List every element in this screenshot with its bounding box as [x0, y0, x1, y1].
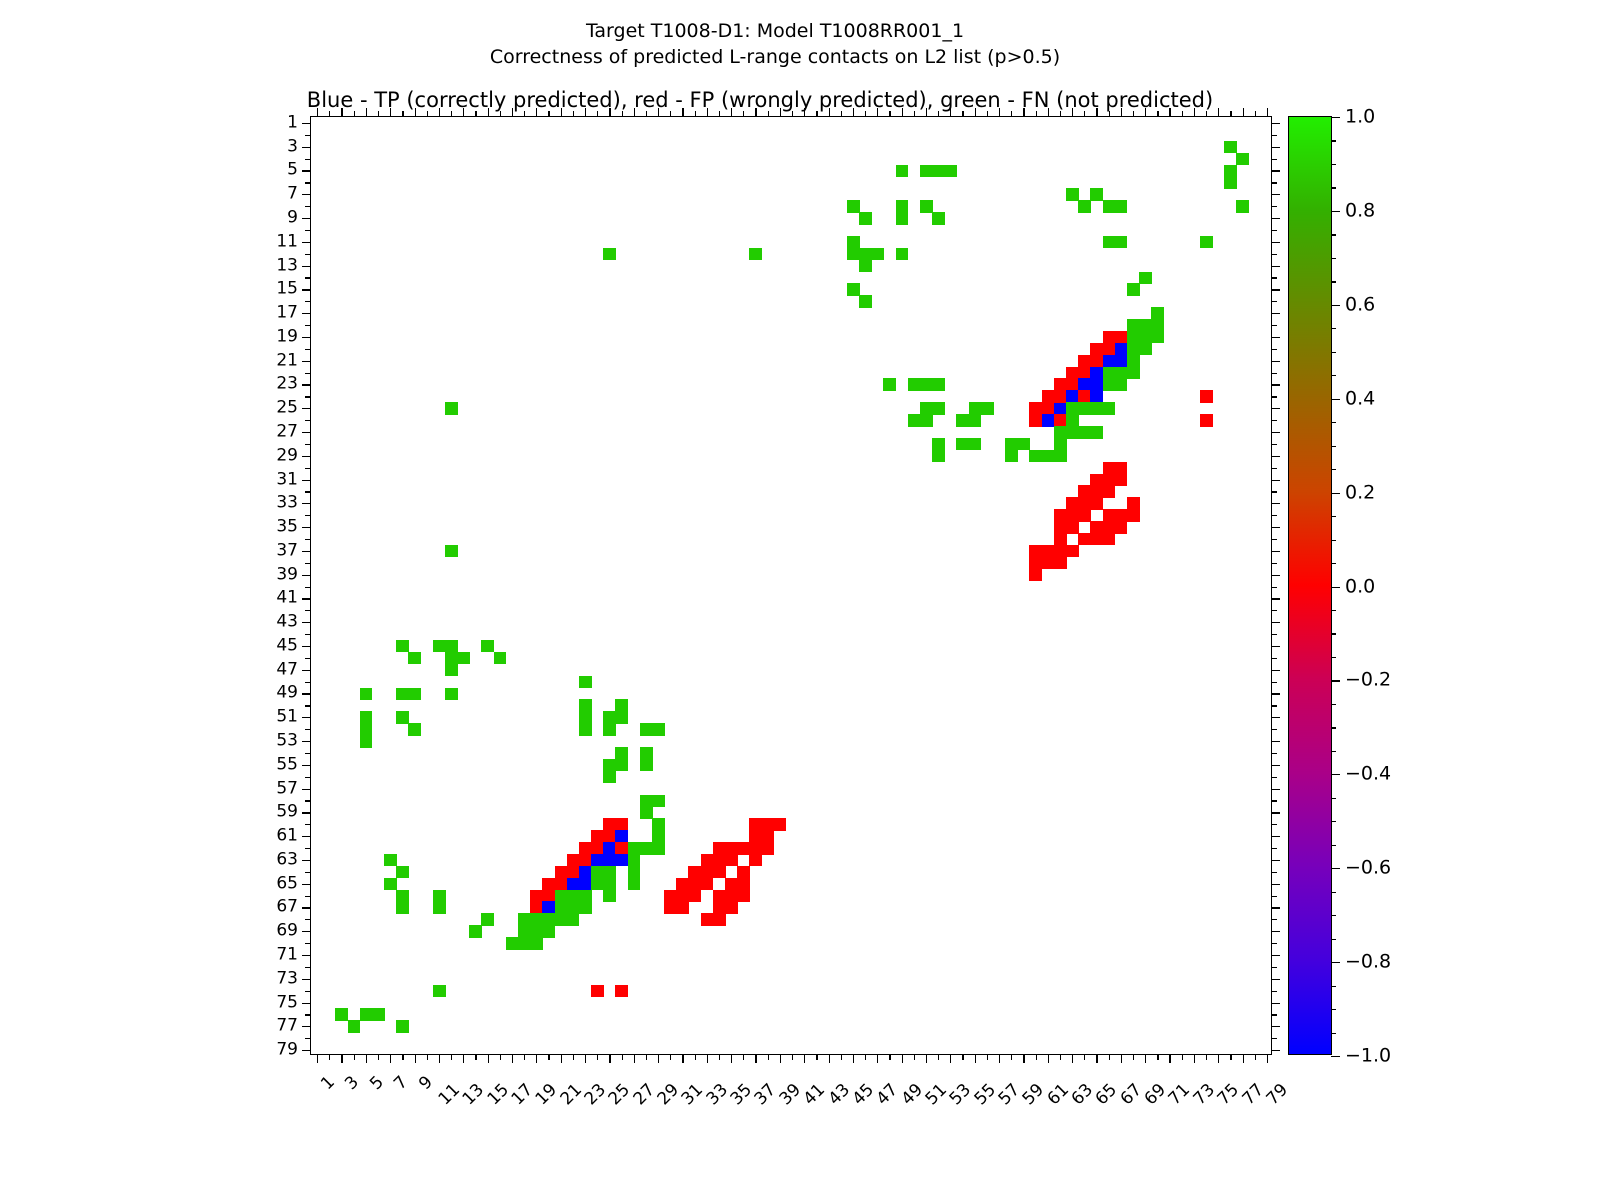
contact-cell [396, 640, 409, 652]
contact-cell-mirror [871, 248, 884, 260]
y-axis-label: 7 [287, 186, 298, 203]
colorbar-minor-tick [1331, 563, 1336, 564]
colorbar: 1.00.80.60.40.20.0−0.2−0.4−0.6−0.8−1.0 [1288, 116, 1332, 1055]
contact-cell-mirror [1151, 307, 1164, 319]
x-axis-tick [975, 1054, 976, 1063]
contact-cell [530, 913, 543, 925]
y-axis-tick [305, 301, 311, 302]
colorbar-minor-tick [1331, 469, 1336, 470]
y-axis-tick [302, 884, 311, 885]
colorbar-minor-tick [1331, 375, 1336, 376]
contact-cell-mirror [713, 913, 726, 925]
x-axis-tick [987, 1054, 988, 1060]
contact-cell-mirror [481, 913, 494, 925]
x-axis-tick-top [390, 108, 391, 117]
x-axis-tick [548, 1054, 549, 1060]
contact-cell [1042, 557, 1055, 569]
y-axis-tick-right [1271, 420, 1277, 421]
contact-cell [652, 818, 665, 830]
colorbar-minor-tick [1331, 164, 1336, 165]
y-axis-tick-right [1271, 610, 1277, 611]
x-axis-tick [536, 1054, 537, 1063]
y-axis-tick-right [1271, 170, 1280, 171]
y-axis-label: 21 [276, 352, 298, 369]
contact-cell [640, 747, 653, 759]
y-axis-tick-right [1271, 135, 1277, 136]
x-axis-tick [378, 1054, 379, 1060]
colorbar-tick [1331, 680, 1340, 681]
x-axis-tick-top [1011, 111, 1012, 117]
colorbar-minor-tick [1331, 892, 1336, 893]
contact-cell-mirror [737, 866, 750, 878]
x-axis-tick-top [695, 111, 696, 117]
x-axis-label: 3 [343, 1074, 363, 1094]
contact-cell-mirror [1090, 485, 1103, 497]
y-axis-tick [305, 610, 311, 611]
x-axis-label: 1 [319, 1074, 339, 1094]
contact-cell-mirror [969, 414, 982, 426]
contact-cell [1103, 509, 1116, 521]
contact-cell-mirror [1066, 497, 1079, 509]
contact-cell [445, 640, 458, 652]
y-axis-tick-right [1271, 943, 1277, 944]
x-axis-tick [999, 1054, 1000, 1063]
contact-cell-mirror [567, 866, 580, 878]
y-axis-tick [302, 693, 311, 694]
contact-cell [1103, 402, 1116, 414]
x-axis-tick-top [707, 108, 708, 117]
x-axis-tick [622, 1054, 623, 1060]
y-axis-tick [305, 277, 311, 278]
contact-cell [725, 842, 738, 854]
contact-cell [1066, 426, 1079, 438]
colorbar-minor-tick [1331, 798, 1336, 799]
contact-cell-mirror [896, 212, 909, 224]
contact-cell [542, 878, 555, 890]
contact-cell-mirror [1078, 355, 1091, 367]
contact-cell-mirror [1078, 497, 1091, 509]
contact-cell-mirror [749, 248, 762, 260]
y-axis-tick [305, 444, 311, 445]
colorbar-minor-tick [1331, 727, 1336, 728]
x-axis-tick [1145, 1054, 1146, 1063]
colorbar-tick-label: 0.0 [1345, 577, 1375, 596]
x-axis-tick-top [755, 108, 756, 117]
contact-cell-mirror [494, 652, 507, 664]
x-axis-tick [670, 1054, 671, 1060]
contact-cell-mirror [408, 688, 421, 700]
contact-cell-mirror [384, 854, 397, 866]
y-axis-label: 63 [276, 851, 298, 868]
y-axis-tick [302, 1003, 311, 1004]
x-axis-tick-top [573, 111, 574, 117]
x-axis-tick [1230, 1054, 1231, 1060]
y-axis-tick-right [1271, 884, 1280, 885]
contact-cell [859, 248, 872, 260]
x-axis-tick [1206, 1054, 1207, 1060]
colorbar-tick-label: −0.6 [1345, 859, 1391, 878]
y-axis-tick-right [1271, 503, 1280, 504]
y-axis-tick-right [1271, 991, 1277, 992]
contact-cell-mirror [579, 842, 592, 854]
x-axis-tick-top [658, 108, 659, 117]
contact-cell [1066, 545, 1079, 557]
contact-cell [737, 842, 750, 854]
y-axis-label: 29 [276, 447, 298, 464]
contact-cell-mirror [555, 890, 568, 902]
y-axis-label: 17 [276, 305, 298, 322]
contact-cell-mirror [628, 842, 641, 854]
y-axis-tick-right [1271, 277, 1277, 278]
y-axis-tick-right [1271, 396, 1277, 397]
contact-cell [518, 913, 531, 925]
x-axis-tick-top [1084, 111, 1085, 117]
x-axis-tick [1133, 1054, 1134, 1060]
x-axis-tick [938, 1054, 939, 1060]
contact-cell [969, 402, 982, 414]
contact-cell [1066, 188, 1079, 200]
contact-cell [1127, 497, 1140, 509]
x-axis-tick-top [536, 108, 537, 117]
x-axis-label: 9 [416, 1074, 436, 1094]
colorbar-minor-tick [1331, 1033, 1336, 1034]
x-axis-tick-top [646, 111, 647, 117]
contact-cell-mirror [956, 414, 969, 426]
contact-cell-mirror [567, 878, 580, 890]
y-axis-tick-right [1271, 325, 1277, 326]
contact-cell-mirror [1066, 414, 1079, 426]
y-axis-tick-right [1271, 206, 1277, 207]
y-axis-label: 57 [276, 780, 298, 797]
y-axis-tick [305, 777, 311, 778]
x-axis-tick-top [1145, 108, 1146, 117]
contact-cell-mirror [591, 878, 604, 890]
y-axis-tick [302, 432, 311, 433]
contact-cell-mirror [433, 985, 446, 997]
contact-cell [676, 878, 689, 890]
y-axis-tick-right [1271, 1003, 1280, 1004]
x-axis-tick [1267, 1054, 1268, 1063]
contact-cell [530, 937, 543, 949]
y-axis-tick [302, 765, 311, 766]
contact-cell-mirror [1090, 390, 1103, 402]
x-axis-tick-top [914, 111, 915, 117]
y-axis-label: 33 [276, 495, 298, 512]
x-axis-tick [829, 1054, 830, 1063]
title-line-1: Target T1008-D1: Model T1008RR001_1 [0, 18, 1550, 44]
y-axis-tick [302, 313, 311, 314]
contact-cell [725, 854, 738, 866]
contact-cell-mirror [579, 890, 592, 902]
y-axis-tick-right [1271, 967, 1277, 968]
colorbar-minor-tick [1331, 610, 1336, 611]
y-axis-tick-right [1271, 800, 1277, 801]
y-axis-tick-right [1271, 848, 1277, 849]
contact-cell-mirror [555, 878, 568, 890]
contact-cell-mirror [1103, 367, 1116, 379]
x-axis-tick-top [938, 111, 939, 117]
x-axis-tick-top [743, 111, 744, 117]
x-axis-tick-top [500, 111, 501, 117]
contact-cell-mirror [603, 842, 616, 854]
x-axis-tick-top [427, 111, 428, 117]
contact-cell-mirror [1078, 390, 1091, 402]
contact-cell-mirror [445, 652, 458, 664]
contact-cell-mirror [1103, 485, 1116, 497]
contact-cell-mirror [737, 890, 750, 902]
x-axis-tick [914, 1054, 915, 1060]
colorbar-minor-tick [1331, 633, 1336, 634]
y-axis-label: 53 [276, 733, 298, 750]
contact-cell-mirror [1127, 355, 1140, 367]
contact-cell-mirror [603, 771, 616, 783]
x-axis-tick-top [354, 111, 355, 117]
contact-cell-mirror [896, 165, 909, 177]
contact-cell [932, 402, 945, 414]
x-axis-tick [1011, 1054, 1012, 1060]
y-axis-tick-right [1271, 361, 1280, 362]
y-axis-tick-right [1271, 575, 1280, 576]
x-axis-tick [950, 1054, 951, 1063]
contact-cell-mirror [1127, 319, 1140, 331]
contact-cell-mirror [396, 1020, 409, 1032]
contact-cell-mirror [1224, 165, 1237, 177]
contact-cell [701, 866, 714, 878]
x-axis-tick [366, 1054, 367, 1063]
colorbar-tick-label: 1.0 [1345, 108, 1375, 127]
x-axis-tick [1023, 1054, 1024, 1063]
y-axis-label: 39 [276, 566, 298, 583]
contact-cell-mirror [1103, 355, 1116, 367]
x-axis-tick-top [366, 108, 367, 117]
y-axis-tick [305, 634, 311, 635]
x-axis-tick [1121, 1054, 1122, 1063]
contact-cell [1054, 438, 1067, 450]
x-axis-tick-top [585, 108, 586, 117]
x-axis-tick-top [1109, 111, 1110, 117]
contact-cell-mirror [384, 878, 397, 890]
y-axis-tick-right [1271, 408, 1280, 409]
x-axis-tick [658, 1054, 659, 1063]
contact-cell-mirror [408, 652, 421, 664]
contact-cell [542, 913, 555, 925]
y-axis-label: 35 [276, 519, 298, 536]
y-axis-tick-right [1271, 254, 1277, 255]
contact-cell-mirror [555, 913, 568, 925]
y-axis-tick-right [1271, 289, 1280, 290]
contact-cell [518, 925, 531, 937]
y-axis-tick [302, 527, 311, 528]
contact-cell [396, 866, 409, 878]
contact-cell-mirror [579, 676, 592, 688]
x-axis-tick-top [816, 111, 817, 117]
contact-cell-mirror [445, 688, 458, 700]
y-axis-tick [302, 242, 311, 243]
y-axis-tick [302, 575, 311, 576]
contact-cell [1042, 450, 1055, 462]
contact-cell [640, 759, 653, 771]
contact-cell [920, 402, 933, 414]
x-axis-tick-top [1157, 111, 1158, 117]
x-axis-tick-top [1072, 108, 1073, 117]
colorbar-tick [1331, 117, 1340, 118]
contact-cell [1200, 414, 1213, 426]
y-axis-label: 27 [276, 423, 298, 440]
y-axis-tick [302, 289, 311, 290]
contact-cell-mirror [567, 854, 580, 866]
x-axis-tick [1096, 1054, 1097, 1063]
y-axis-tick-right [1271, 634, 1277, 635]
contact-cell [396, 901, 409, 913]
x-axis-tick-top [889, 111, 890, 117]
y-axis-tick [302, 480, 311, 481]
x-axis-tick-top [877, 108, 878, 117]
colorbar-minor-tick [1331, 258, 1336, 259]
y-axis-tick [302, 503, 311, 504]
x-axis-tick [341, 1054, 342, 1063]
contact-cell [360, 1008, 373, 1020]
y-axis-tick [302, 1026, 311, 1027]
contact-cell-mirror [1066, 367, 1079, 379]
contact-cell-mirror [445, 402, 458, 414]
y-axis-label: 25 [276, 400, 298, 417]
contact-cell [688, 866, 701, 878]
x-axis-tick [1036, 1054, 1037, 1060]
x-axis-tick-top [1255, 111, 1256, 117]
contact-cell [1054, 557, 1067, 569]
contact-cell-mirror [847, 248, 860, 260]
x-axis-tick [1194, 1054, 1195, 1063]
y-axis-tick-right [1271, 777, 1277, 778]
contact-cell [944, 165, 957, 177]
x-axis-tick [597, 1054, 598, 1060]
x-axis-tick [865, 1054, 866, 1060]
colorbar-minor-tick [1331, 281, 1336, 282]
contact-cell [676, 890, 689, 902]
contact-cell-mirror [737, 878, 750, 890]
y-axis-tick [302, 717, 311, 718]
contact-cell [530, 890, 543, 902]
contact-cell [713, 854, 726, 866]
x-axis-tick-top [634, 108, 635, 117]
colorbar-minor-tick [1331, 751, 1336, 752]
x-axis-label: 79 [1264, 1081, 1291, 1108]
x-axis-tick [646, 1054, 647, 1060]
y-axis-tick-right [1271, 551, 1280, 552]
figure-title: Target T1008-D1: Model T1008RR001_1 Corr… [0, 18, 1550, 70]
contact-cell-mirror [1090, 355, 1103, 367]
contact-cell-mirror [603, 723, 616, 735]
y-axis-tick [302, 622, 311, 623]
contact-cell [615, 699, 628, 711]
contact-cell [859, 295, 872, 307]
contact-cell-mirror [1103, 378, 1116, 390]
y-axis-label: 45 [276, 637, 298, 654]
y-axis-tick [302, 266, 311, 267]
x-axis-tick-top [1243, 108, 1244, 117]
contact-cell-mirror [762, 830, 775, 842]
contact-cell-mirror [749, 818, 762, 830]
contact-cell-mirror [1224, 141, 1237, 153]
colorbar-tick [1331, 211, 1340, 212]
contact-cell-mirror [628, 854, 641, 866]
x-axis-tick-top [512, 108, 513, 117]
x-axis-tick [317, 1054, 318, 1063]
contact-cell-mirror [920, 200, 933, 212]
x-axis-tick [475, 1054, 476, 1060]
y-axis-label: 23 [276, 376, 298, 393]
contact-cell [506, 937, 519, 949]
y-axis-tick-right [1271, 266, 1280, 267]
contact-cell-mirror [1115, 236, 1128, 248]
y-axis-tick [302, 361, 311, 362]
contact-cell-mirror [1078, 378, 1091, 390]
y-axis-tick-right [1271, 563, 1277, 564]
y-axis-label: 65 [276, 875, 298, 892]
x-axis-tick-top [902, 108, 903, 117]
x-axis-tick [1072, 1054, 1073, 1063]
y-axis-tick [302, 123, 311, 124]
contact-cell-mirror [579, 901, 592, 913]
x-axis-tick [354, 1054, 355, 1060]
contact-cell [445, 545, 458, 557]
y-axis-tick-right [1271, 907, 1280, 908]
y-axis-tick-right [1271, 242, 1280, 243]
x-axis-tick-top [329, 111, 330, 117]
x-axis-tick-top [1206, 111, 1207, 117]
contact-cell [1078, 426, 1091, 438]
y-axis-tick [305, 468, 311, 469]
y-axis-tick [302, 1050, 311, 1051]
x-axis-tick-top [415, 108, 416, 117]
contact-cell-mirror [1078, 200, 1091, 212]
contact-cell [615, 759, 628, 771]
contact-cell-mirror [762, 818, 775, 830]
contact-cell-mirror [1078, 367, 1091, 379]
y-axis-tick [302, 218, 311, 219]
contact-cell-mirror [1200, 390, 1213, 402]
x-axis-tick-top [719, 111, 720, 117]
x-axis-tick-top [1169, 108, 1170, 117]
x-axis-tick [1243, 1054, 1244, 1063]
contact-cell-mirror [1115, 343, 1128, 355]
x-axis-tick [755, 1054, 756, 1063]
contact-cell-mirror [628, 878, 641, 890]
contact-cell-mirror [749, 842, 762, 854]
y-axis-tick-right [1271, 658, 1277, 659]
y-axis-tick-right [1271, 919, 1277, 920]
y-axis-tick-right [1271, 872, 1277, 873]
contact-cell [1090, 426, 1103, 438]
contact-cell-mirror [1078, 485, 1091, 497]
x-axis-tick [877, 1054, 878, 1063]
contact-cell [433, 640, 446, 652]
contact-cell-mirror [1200, 236, 1213, 248]
contact-cell-mirror [701, 913, 714, 925]
colorbar-tick-label: 0.2 [1345, 483, 1375, 502]
contact-cell [396, 711, 409, 723]
colorbar-tick [1331, 1056, 1340, 1057]
x-axis-tick [804, 1054, 805, 1063]
colorbar-minor-tick [1331, 1009, 1336, 1010]
contact-cell-mirror [603, 818, 616, 830]
y-axis-tick [302, 337, 311, 338]
contact-cell-mirror [896, 200, 909, 212]
contact-cell-mirror [408, 723, 421, 735]
colorbar-minor-tick [1331, 540, 1336, 541]
y-axis-tick [302, 979, 311, 980]
contact-cell [896, 248, 909, 260]
